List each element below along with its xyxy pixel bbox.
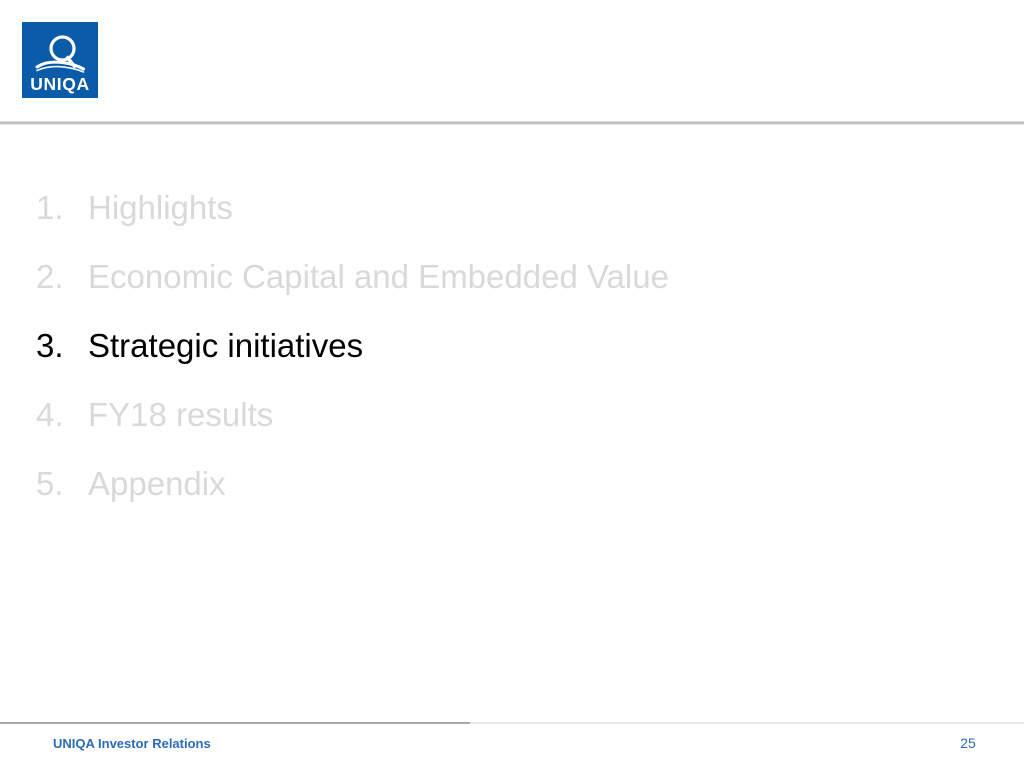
slide-header: UNIQA — [0, 0, 1024, 122]
agenda-item-3-number: 3. — [36, 324, 88, 368]
agenda-item-3[interactable]: 3. Strategic initiatives — [0, 324, 1024, 393]
agenda-item-1-number: 1. — [36, 186, 88, 230]
agenda-list: 1. Highlights 2. Economic Capital and Em… — [0, 186, 1024, 531]
header-divider — [0, 121, 1024, 125]
agenda-item-5[interactable]: 5. Appendix — [0, 462, 1024, 531]
footer-divider-left-segment — [0, 722, 470, 724]
footer-divider-right-segment — [470, 722, 1024, 724]
agenda-item-1[interactable]: 1. Highlights — [0, 186, 1024, 255]
page-number: 25 — [950, 734, 986, 752]
agenda-item-2[interactable]: 2. Economic Capital and Embedded Value — [0, 255, 1024, 324]
agenda-item-3-label: Strategic initiatives — [88, 324, 363, 368]
footer-divider — [0, 722, 1024, 724]
slide: UNIQA 1. Highlights 2. Economic Capital … — [0, 0, 1024, 768]
agenda-item-5-number: 5. — [36, 462, 88, 506]
uniqa-wordmark: UNIQA — [30, 74, 89, 94]
agenda-item-2-number: 2. — [36, 255, 88, 299]
uniqa-logo: UNIQA — [22, 22, 98, 98]
agenda-item-4-number: 4. — [36, 393, 88, 437]
uniqa-q-mark — [37, 37, 84, 72]
footer-label: UNIQA Investor Relations — [53, 735, 211, 752]
agenda-item-5-label: Appendix — [88, 462, 226, 506]
agenda-item-1-label: Highlights — [88, 186, 233, 230]
agenda-item-4-label: FY18 results — [88, 393, 273, 437]
agenda-item-2-label: Economic Capital and Embedded Value — [88, 255, 669, 299]
agenda-item-4[interactable]: 4. FY18 results — [0, 393, 1024, 462]
